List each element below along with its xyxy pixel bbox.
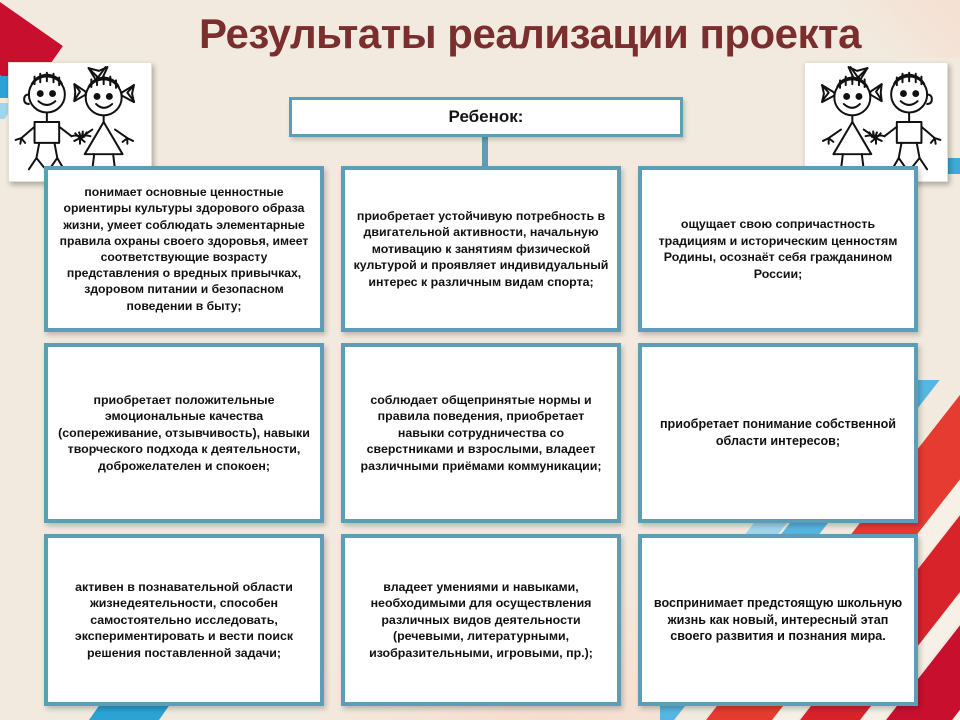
result-card[interactable]: приобретает положительные эмоциональные …: [44, 343, 324, 523]
result-card-text: приобретает понимание собственной област…: [650, 416, 906, 449]
result-card[interactable]: соблюдает общепринятые нормы и правила п…: [341, 343, 621, 523]
header-box-child[interactable]: Ребенок:: [289, 97, 683, 137]
result-card-text: активен в познавательной области жизнеде…: [56, 579, 312, 662]
result-card[interactable]: понимает основные ценностные ориентиры к…: [44, 166, 324, 332]
result-card-text: владеет умениями и навыками, необходимым…: [353, 579, 609, 662]
result-card[interactable]: приобретает понимание собственной област…: [638, 343, 918, 523]
result-card-text: соблюдает общепринятые нормы и правила п…: [353, 392, 609, 475]
result-card-text: приобретает устойчивую потребность в дви…: [353, 208, 609, 291]
result-card-text: приобретает положительные эмоциональные …: [56, 392, 312, 475]
result-card[interactable]: приобретает устойчивую потребность в дви…: [341, 166, 621, 332]
result-card[interactable]: ощущает свою сопричастность традициям и …: [638, 166, 918, 332]
connector-vertical: [482, 137, 488, 168]
results-grid: понимает основные ценностные ориентиры к…: [44, 166, 918, 706]
result-card-text: понимает основные ценностные ориентиры к…: [56, 184, 312, 314]
children-illustration-left: [8, 62, 152, 182]
children-illustration-right: [804, 62, 948, 182]
header-box-label: Ребенок:: [449, 107, 524, 127]
result-card[interactable]: активен в познавательной области жизнеде…: [44, 534, 324, 706]
result-card[interactable]: владеет умениями и навыками, необходимым…: [341, 534, 621, 706]
result-card-text: ощущает свою сопричастность традициям и …: [650, 216, 906, 282]
result-card[interactable]: воспринимает предстоящую школьную жизнь …: [638, 534, 918, 706]
result-card-text: воспринимает предстоящую школьную жизнь …: [650, 595, 906, 645]
presentation-slide: Результаты реализации проекта: [0, 0, 960, 720]
slide-title: Результаты реализации проекта: [120, 10, 940, 58]
